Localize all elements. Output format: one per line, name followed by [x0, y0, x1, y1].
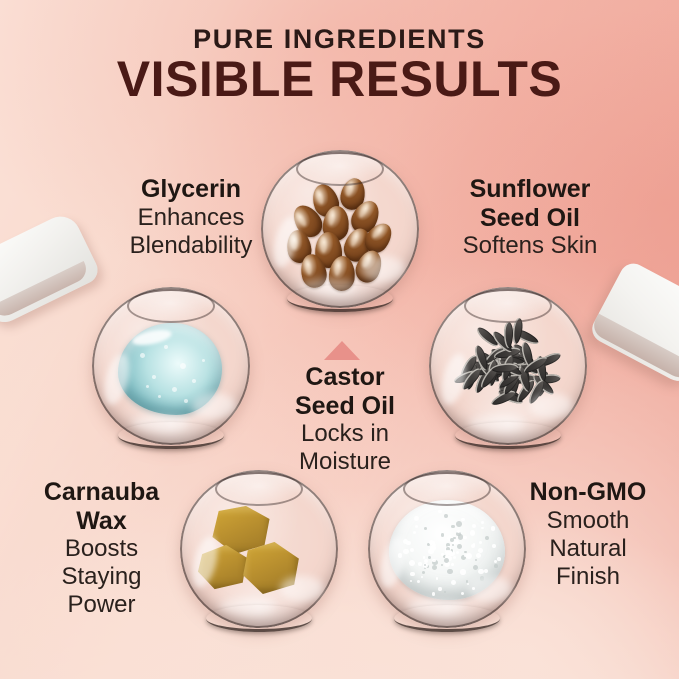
ingredient-label-carnauba-wax: Carnauba Wax Boosts Staying Power: [14, 478, 189, 619]
ingredient-name: Castor: [272, 363, 418, 392]
bowl-rim: [464, 289, 552, 323]
ingredient-name: Non-GMO: [508, 478, 668, 507]
ingredient-benefit-line: Staying: [14, 563, 189, 591]
ingredient-bowl-carnauba-wax: [180, 470, 338, 628]
bowl-base: [118, 422, 224, 449]
ingredient-benefit-line: Moisture: [272, 448, 418, 476]
ingredient-name: Glycerin: [96, 175, 286, 204]
bowl-rim: [403, 472, 491, 506]
ingredient-name: Carnauba: [14, 478, 189, 507]
ingredient-bowl-glycerin: [92, 287, 250, 445]
ingredient-benefit-line: Enhances: [96, 204, 286, 232]
ingredient-benefit-line: Natural: [508, 535, 668, 563]
ingredient-name: Wax: [14, 507, 189, 536]
ingredient-benefit-line: Locks in: [272, 420, 418, 448]
ingredient-name: Seed Oil: [272, 392, 418, 421]
ingredient-label-sunflower-seed-oil: Sunflower Seed Oil Softens Skin: [430, 175, 630, 260]
ingredient-name: Seed Oil: [430, 204, 630, 233]
bowl-base: [206, 605, 312, 632]
ingredient-benefit-line: Smooth: [508, 507, 668, 535]
ingredient-infographic: PURE INGREDIENTS VISIBLE RESULTS: [0, 0, 679, 679]
cosmetic-slab-right: [587, 259, 679, 388]
castor-pointer-triangle-icon: [324, 341, 360, 360]
ingredient-benefit-line: Blendability: [96, 232, 286, 260]
ingredient-bowl-sunflower-seed-oil: [429, 287, 587, 445]
bowl-base: [455, 422, 561, 449]
ingredient-name: Sunflower: [430, 175, 630, 204]
ingredient-bowl-non-gmo: [368, 470, 526, 628]
page-title: VISIBLE RESULTS: [0, 50, 679, 108]
glass-highlight: [192, 393, 236, 419]
ingredient-benefit-line: Softens Skin: [430, 232, 630, 260]
bowl-base: [287, 285, 393, 312]
ingredient-benefit-line: Boosts: [14, 535, 189, 563]
glass-highlight: [468, 576, 512, 602]
ingredient-label-glycerin: Glycerin Enhances Blendability: [96, 175, 286, 260]
glass-highlight: [529, 393, 573, 419]
bowl-base: [394, 605, 500, 632]
glass-highlight: [280, 576, 324, 602]
bowl-rim: [127, 289, 215, 323]
bowl-rim: [296, 152, 384, 186]
bowl-rim: [215, 472, 303, 506]
ingredient-benefit-line: Finish: [508, 563, 668, 591]
ingredient-label-non-gmo: Non-GMO Smooth Natural Finish: [508, 478, 668, 591]
glass-highlight: [361, 256, 405, 282]
ingredient-label-castor-seed-oil: Castor Seed Oil Locks in Moisture: [272, 363, 418, 476]
cosmetic-slab-left: [0, 210, 102, 328]
ingredient-benefit-line: Power: [14, 591, 189, 619]
